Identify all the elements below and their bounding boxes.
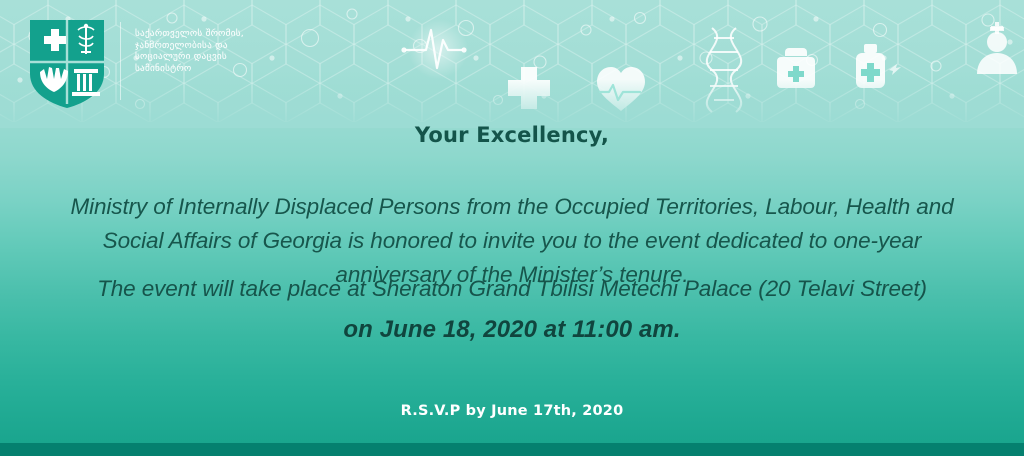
ministry-name-line-2: ჯანმრთელობისა და	[135, 40, 244, 52]
ministry-name-line-4: სამინისტრო	[135, 63, 244, 75]
ministry-shield-icon	[28, 18, 106, 110]
rsvp-line: R.S.V.P by June 17th, 2020	[0, 403, 1024, 419]
logo-divider	[120, 22, 121, 100]
ministry-name-line-1: საქართველოს შრომის,	[135, 28, 244, 40]
ministry-name-line-3: სოციალური დაცვის	[135, 51, 244, 63]
datetime-line: on June 18, 2020 at 11:00 am.	[0, 316, 1024, 344]
ministry-name: საქართველოს შრომის, ჯანმრთელობისა და სოც…	[135, 18, 244, 74]
venue-line: The event will take place at Sheraton Gr…	[0, 272, 1024, 306]
ministry-logo: საქართველოს შრომის, ჯანმრთელობისა და სოც…	[28, 18, 244, 110]
salutation: Your Excellency,	[0, 123, 1024, 147]
invitation-card: საქართველოს შრომის, ჯანმრთელობისა და სოც…	[0, 0, 1024, 456]
